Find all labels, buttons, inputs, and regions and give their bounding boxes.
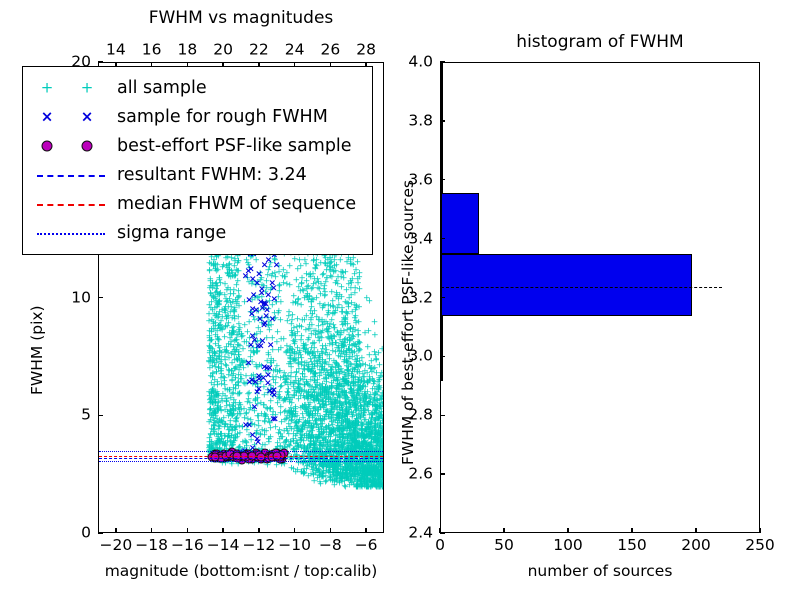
- scatter-xticklabel-top: 28: [356, 43, 376, 59]
- scatter-point-all-sample: +: [322, 254, 330, 263]
- scatter-point-all-sample: +: [311, 407, 319, 416]
- scatter-xticklabel-bottom: −20: [100, 538, 133, 554]
- scatter-point-all-sample: +: [343, 375, 351, 384]
- scatter-point-all-sample: +: [309, 310, 317, 319]
- scatter-reference-line-median-fhwm-of-sequence: [99, 456, 383, 457]
- scatter-point-all-sample: +: [316, 317, 324, 326]
- plus-icon: +: [81, 80, 94, 95]
- scatter-point-all-sample: +: [356, 273, 364, 282]
- scatter-point-all-sample: +: [354, 331, 362, 340]
- figure-canvas: FWHM vs magnitudes magnitude (bottom:isn…: [0, 0, 800, 600]
- scatter-point-all-sample: +: [360, 410, 368, 419]
- scatter-point-all-sample: +: [337, 329, 345, 338]
- scatter-point-all-sample: +: [342, 406, 350, 415]
- scatter-point-all-sample: +: [358, 479, 366, 488]
- scatter-point-all-sample: +: [214, 392, 222, 401]
- dashed-line-icon: [37, 204, 105, 206]
- scatter-point-rough-fwhm: ×: [270, 285, 278, 294]
- scatter-point-all-sample: +: [356, 286, 364, 295]
- scatter-point-all-sample: +: [236, 389, 244, 398]
- scatter-point-all-sample: +: [369, 402, 377, 411]
- scatter-point-all-sample: +: [265, 349, 273, 358]
- scatter-point-all-sample: +: [297, 288, 305, 297]
- histogram-yticklabel: 2.4: [408, 525, 433, 541]
- scatter-point-all-sample: +: [378, 413, 383, 422]
- scatter-point-all-sample: +: [267, 425, 275, 434]
- filled-circle-icon: [82, 140, 93, 151]
- scatter-point-rough-fwhm: ×: [273, 261, 281, 270]
- histogram-ytick: [440, 120, 445, 121]
- scatter-point-all-sample: +: [225, 319, 233, 328]
- legend-item: ××sample for rough FWHM: [31, 102, 364, 131]
- scatter-xtick-bottom: [294, 528, 295, 533]
- scatter-point-all-sample: +: [207, 358, 215, 367]
- filled-circle-icon: [42, 140, 53, 151]
- histogram-plot-title: histogram of FWHM: [516, 32, 683, 52]
- scatter-point-all-sample: +: [233, 433, 241, 442]
- scatter-point-all-sample: +: [306, 294, 314, 303]
- histogram-xticklabel: 250: [745, 538, 775, 554]
- histogram-yticklabel: 4.0: [408, 54, 433, 70]
- scatter-xticklabel-top: 26: [321, 43, 341, 59]
- legend-item-label: resultant FWHM: 3.24: [117, 165, 307, 185]
- histogram-yticklabel: 3.8: [408, 113, 433, 129]
- scatter-point-all-sample: +: [300, 437, 308, 446]
- scatter-point-all-sample: +: [309, 339, 317, 348]
- scatter-point-all-sample: +: [210, 262, 218, 271]
- scatter-point-all-sample: +: [347, 277, 355, 286]
- scatter-xticklabel-bottom: −18: [135, 538, 168, 554]
- scatter-ytick: [98, 61, 103, 62]
- scatter-xticklabel-bottom: −16: [171, 538, 204, 554]
- scatter-point-all-sample: +: [337, 268, 345, 277]
- scatter-ytick: [98, 297, 103, 298]
- scatter-point-all-sample: +: [294, 266, 302, 275]
- histogram-ytick: [440, 415, 445, 416]
- scatter-yaxis-label: FWHM (pix): [28, 305, 46, 395]
- scatter-point-all-sample: +: [354, 379, 362, 388]
- scatter-point-rough-fwhm: ×: [245, 267, 253, 276]
- scatter-point-all-sample: +: [310, 471, 318, 480]
- histogram-yticklabel: 3.6: [408, 172, 433, 188]
- scatter-point-all-sample: +: [283, 376, 291, 385]
- scatter-xtick-bottom: [115, 528, 116, 533]
- scatter-point-all-sample: +: [356, 368, 364, 377]
- scatter-point-all-sample: +: [378, 390, 383, 399]
- legend-marker-filled-circle-icon: [31, 137, 117, 155]
- scatter-point-rough-fwhm: ×: [271, 416, 279, 425]
- scatter-xticklabel-bottom: −8: [319, 538, 342, 554]
- scatter-point-all-sample: +: [285, 309, 293, 318]
- scatter-point-all-sample: +: [305, 422, 313, 431]
- histogram-bar: [441, 63, 443, 193]
- scatter-point-all-sample: +: [321, 361, 329, 370]
- scatter-point-all-sample: +: [318, 473, 326, 482]
- scatter-point-all-sample: +: [221, 420, 229, 429]
- scatter-point-all-sample: +: [319, 437, 327, 446]
- scatter-point-all-sample: +: [375, 374, 383, 383]
- scatter-point-all-sample: +: [322, 388, 330, 397]
- histogram-yticklabel: 2.8: [408, 408, 433, 424]
- scatter-point-all-sample: +: [328, 289, 336, 298]
- scatter-point-all-sample: +: [283, 388, 291, 397]
- scatter-point-rough-fwhm: ×: [254, 342, 262, 351]
- legend-item-label: sigma range: [117, 223, 226, 243]
- scatter-point-all-sample: +: [341, 473, 349, 482]
- scatter-point-rough-fwhm: ×: [267, 341, 275, 350]
- scatter-reference-line-resultant-fwhm: [99, 458, 383, 459]
- scatter-xtick-bottom: [330, 528, 331, 533]
- scatter-xtick-bottom: [187, 528, 188, 533]
- scatter-point-rough-fwhm: ×: [251, 404, 259, 413]
- legend-item: resultant FWHM: 3.24: [31, 160, 364, 189]
- histogram-ytick: [440, 532, 445, 533]
- scatter-xtick-bottom: [258, 528, 259, 533]
- histogram-yticklabel: 3.0: [408, 349, 433, 365]
- legend-item: best-effort PSF-like sample: [31, 131, 364, 160]
- scatter-point-rough-fwhm: ×: [245, 359, 253, 368]
- dashed-line-icon: [37, 175, 105, 177]
- scatter-point-rough-fwhm: ×: [271, 296, 279, 305]
- histogram-ytick: [440, 179, 445, 180]
- scatter-point-all-sample: +: [291, 338, 299, 347]
- scatter-point-all-sample: +: [364, 343, 372, 352]
- scatter-xaxis-label: magnitude (bottom:isnt / top:calib): [105, 562, 378, 580]
- legend-item: sigma range: [31, 218, 364, 247]
- scatter-point-all-sample: +: [296, 385, 304, 394]
- histogram-bar: [441, 254, 692, 316]
- scatter-point-all-sample: +: [371, 332, 379, 341]
- scatter-point-all-sample: +: [221, 386, 229, 395]
- histogram-ytick: [440, 297, 445, 298]
- scatter-point-rough-fwhm: ×: [242, 421, 250, 430]
- scatter-xticklabel-top: 24: [285, 43, 305, 59]
- scatter-point-all-sample: +: [224, 350, 232, 359]
- scatter-point-all-sample: +: [235, 366, 243, 375]
- scatter-point-all-sample: +: [369, 480, 377, 489]
- histogram-ytick: [440, 356, 445, 357]
- scatter-point-all-sample: +: [228, 408, 236, 417]
- scatter-point-all-sample: +: [275, 430, 283, 439]
- scatter-point-all-sample: +: [366, 362, 374, 371]
- histogram-axes: [440, 62, 760, 533]
- scatter-point-rough-fwhm: ×: [249, 306, 257, 315]
- scatter-xticklabel-bottom: −6: [355, 538, 378, 554]
- scatter-point-rough-fwhm: ×: [260, 300, 268, 309]
- histogram-xticklabel: 150: [617, 538, 647, 554]
- legend-marker-cross-icon: ××: [31, 108, 117, 126]
- scatter-point-all-sample: +: [302, 349, 310, 358]
- scatter-point-all-sample: +: [347, 292, 355, 301]
- scatter-point-all-sample: +: [366, 297, 374, 306]
- scatter-point-all-sample: +: [213, 368, 221, 377]
- scatter-xticklabel-bottom: −10: [278, 538, 311, 554]
- histogram-bar: [441, 193, 479, 255]
- scatter-point-all-sample: +: [341, 396, 349, 405]
- scatter-point-all-sample: +: [340, 314, 348, 323]
- scatter-reference-line-sigma-range-upper: [99, 451, 383, 452]
- scatter-point-all-sample: +: [344, 435, 352, 444]
- scatter-reference-line-sigma-range-lower: [99, 461, 383, 462]
- legend-marker-dash-dot-line-icon: [31, 224, 117, 242]
- scatter-point-all-sample: +: [292, 411, 300, 420]
- scatter-point-all-sample: +: [207, 337, 215, 346]
- histogram-xtick: [567, 528, 568, 533]
- scatter-point-rough-fwhm: ×: [246, 379, 254, 388]
- scatter-point-all-sample: +: [275, 346, 283, 355]
- scatter-point-all-sample: +: [333, 462, 341, 471]
- scatter-point-rough-fwhm: ×: [255, 270, 263, 279]
- scatter-point-rough-fwhm: ×: [258, 285, 266, 294]
- plus-icon: +: [41, 80, 54, 95]
- scatter-point-rough-fwhm: ×: [261, 261, 269, 270]
- scatter-point-all-sample: +: [286, 262, 294, 271]
- scatter-ytick: [98, 532, 103, 533]
- histogram-ytick: [440, 238, 445, 239]
- legend-marker-plus-icon: ++: [31, 79, 117, 97]
- cross-icon: ×: [81, 109, 94, 124]
- scatter-point-all-sample: +: [330, 324, 338, 333]
- legend-marker-dashed-line-icon: [31, 166, 117, 184]
- histogram-xticklabel: 100: [553, 538, 583, 554]
- scatter-xticklabel-top: 18: [178, 43, 198, 59]
- scatter-point-rough-fwhm: ×: [249, 431, 257, 440]
- histogram-xtick: [695, 528, 696, 533]
- scatter-point-all-sample: +: [334, 420, 342, 429]
- scatter-point-rough-fwhm: ×: [261, 320, 269, 329]
- scatter-point-all-sample: +: [331, 438, 339, 447]
- histogram-yticklabel: 3.4: [408, 231, 433, 247]
- scatter-point-all-sample: +: [323, 375, 331, 384]
- scatter-yticklabel: 0: [81, 525, 91, 541]
- histogram-median-line: [441, 287, 722, 288]
- scatter-point-all-sample: +: [348, 309, 356, 318]
- scatter-point-all-sample: +: [224, 304, 232, 313]
- histogram-yticklabel: 3.2: [408, 290, 433, 306]
- legend-marker-dashed-line-icon: [31, 195, 117, 213]
- scatter-point-rough-fwhm: ×: [255, 373, 263, 382]
- scatter-point-all-sample: +: [329, 412, 337, 421]
- scatter-xtick-bottom: [151, 528, 152, 533]
- scatter-xtick-bottom: [365, 528, 366, 533]
- scatter-point-all-sample: +: [227, 339, 235, 348]
- scatter-point-all-sample: +: [308, 359, 316, 368]
- histogram-xtick: [759, 528, 760, 533]
- scatter-point-all-sample: +: [227, 273, 235, 282]
- scatter-xticklabel-top: 14: [106, 43, 126, 59]
- scatter-yticklabel: 5: [81, 408, 91, 424]
- scatter-point-all-sample: +: [311, 397, 319, 406]
- scatter-xticklabel-top: 16: [142, 43, 162, 59]
- scatter-point-all-sample: +: [316, 286, 324, 295]
- scatter-point-all-sample: +: [345, 345, 353, 354]
- scatter-plot-title: FWHM vs magnitudes: [149, 8, 334, 28]
- legend-item: ++all sample: [31, 73, 364, 102]
- scatter-point-all-sample: +: [304, 326, 312, 335]
- legend-item-label: all sample: [117, 78, 207, 98]
- scatter-xtick-bottom: [222, 528, 223, 533]
- histogram-xtick: [503, 528, 504, 533]
- scatter-point-all-sample: +: [380, 435, 383, 444]
- scatter-point-all-sample: +: [376, 422, 383, 431]
- histogram-xticklabel: 200: [681, 538, 711, 554]
- scatter-point-all-sample: +: [287, 353, 295, 362]
- scatter-xticklabel-top: 22: [249, 43, 269, 59]
- histogram-ytick: [440, 61, 445, 62]
- scatter-point-all-sample: +: [208, 425, 216, 434]
- scatter-point-all-sample: +: [330, 391, 338, 400]
- scatter-point-all-sample: +: [212, 319, 220, 328]
- scatter-point-all-sample: +: [294, 328, 302, 337]
- scatter-point-all-sample: +: [363, 433, 371, 442]
- scatter-point-all-sample: +: [293, 276, 301, 285]
- scatter-point-all-sample: +: [289, 300, 297, 309]
- scatter-point-all-sample: +: [333, 345, 341, 354]
- histogram-xtick: [631, 528, 632, 533]
- scatter-xticklabel-bottom: −12: [243, 538, 276, 554]
- scatter-point-all-sample: +: [214, 292, 222, 301]
- histogram-bar: [441, 316, 443, 381]
- scatter-point-all-sample: +: [290, 438, 298, 447]
- scatter-point-all-sample: +: [347, 256, 355, 265]
- scatter-xticklabel-top: 20: [213, 43, 233, 59]
- scatter-point-all-sample: +: [325, 310, 333, 319]
- dash-dot-line-icon: [37, 233, 105, 235]
- scatter-point-all-sample: +: [350, 471, 358, 480]
- histogram-xaxis-label: number of sources: [528, 562, 673, 580]
- scatter-point-all-sample: +: [323, 274, 331, 283]
- histogram-xticklabel: 0: [435, 538, 445, 554]
- histogram-yticklabel: 2.6: [408, 466, 433, 482]
- histogram-xticklabel: 50: [494, 538, 514, 554]
- scatter-point-all-sample: +: [207, 304, 215, 313]
- scatter-point-rough-fwhm: ×: [255, 386, 263, 395]
- scatter-point-all-sample: +: [371, 348, 379, 357]
- scatter-point-rough-fwhm: ×: [270, 391, 278, 400]
- legend-item-label: sample for rough FWHM: [117, 107, 328, 127]
- legend-box: ++all sample××sample for rough FWHMbest-…: [22, 66, 373, 255]
- scatter-point-rough-fwhm: ×: [264, 372, 272, 381]
- scatter-xticklabel-bottom: −14: [207, 538, 240, 554]
- scatter-point-all-sample: +: [286, 396, 294, 405]
- scatter-point-all-sample: +: [301, 257, 309, 266]
- legend-item-label: median FHWM of sequence: [117, 194, 356, 214]
- histogram-plot-area: [441, 63, 759, 532]
- scatter-point-rough-fwhm: ×: [269, 315, 277, 324]
- scatter-point-all-sample: +: [245, 318, 253, 327]
- scatter-point-all-sample: +: [307, 273, 315, 282]
- scatter-point-all-sample: +: [307, 369, 315, 378]
- histogram-ytick: [440, 473, 445, 474]
- legend-item: median FHWM of sequence: [31, 189, 364, 218]
- scatter-point-all-sample: +: [352, 320, 360, 329]
- scatter-point-all-sample: +: [356, 397, 364, 406]
- scatter-yticklabel: 10: [71, 290, 91, 306]
- cross-icon: ×: [41, 109, 54, 124]
- scatter-ytick: [98, 415, 103, 416]
- legend-item-label: best-effort PSF-like sample: [117, 136, 352, 156]
